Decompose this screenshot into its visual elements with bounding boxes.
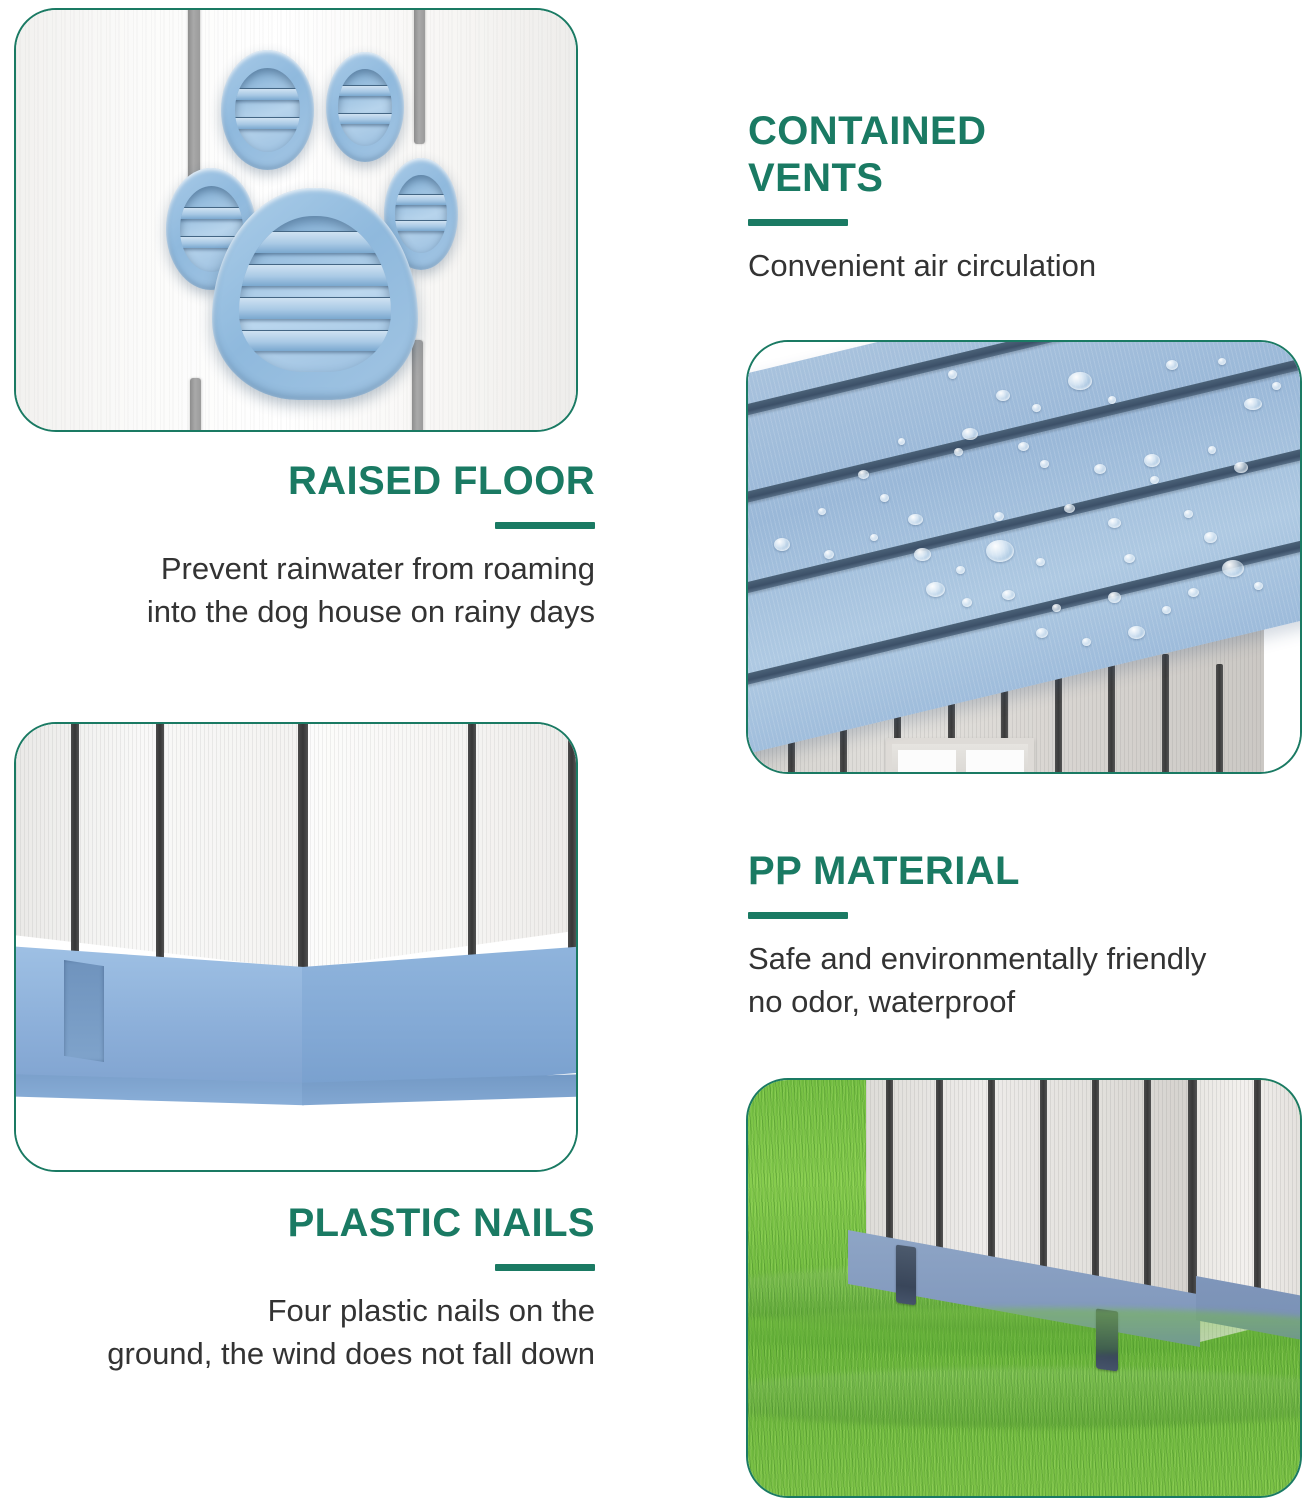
grass-shadow-band <box>748 1368 1300 1428</box>
siding-groove <box>414 10 425 144</box>
water-droplet <box>1068 372 1092 390</box>
feature-body: Prevent rainwater from roaming into the … <box>55 529 595 634</box>
water-droplet <box>1244 398 1262 410</box>
water-droplet <box>1108 518 1121 528</box>
wall-groove <box>156 724 164 966</box>
paw-vent-photo <box>14 8 578 432</box>
water-droplet <box>962 428 978 440</box>
wall-groove <box>1216 664 1223 772</box>
wall-groove <box>1254 1080 1261 1314</box>
water-droplet <box>870 534 878 541</box>
siding-groove <box>190 378 201 430</box>
heading-rule <box>495 1264 595 1271</box>
water-droplet <box>1036 628 1048 638</box>
water-droplet <box>954 448 963 456</box>
water-droplet <box>1218 358 1226 365</box>
wall-groove <box>1144 1080 1151 1308</box>
water-droplet <box>1150 476 1159 484</box>
wall-groove <box>71 724 79 960</box>
heading-rule <box>748 219 848 226</box>
water-droplet <box>1144 454 1160 467</box>
feature-heading: PP MATERIAL <box>748 848 1293 895</box>
feature-heading: CONTAINED VENTS <box>748 108 1293 202</box>
water-droplet <box>1162 606 1171 614</box>
water-droplet <box>1040 460 1049 468</box>
wall-groove <box>1040 1080 1047 1282</box>
feature-pp-material: PP MATERIAL Safe and environmentally fri… <box>748 848 1293 1024</box>
water-droplet <box>1094 464 1106 474</box>
water-droplet <box>1052 604 1061 612</box>
feature-body: Four plastic nails on the ground, the wi… <box>55 1271 595 1376</box>
water-droplet <box>1032 404 1041 412</box>
wall-groove <box>1162 654 1169 772</box>
house-window <box>886 738 1034 772</box>
wall-groove <box>886 1080 893 1242</box>
grass-scene <box>748 1080 1300 1496</box>
siding-groove <box>412 340 423 430</box>
water-droplet <box>1254 582 1263 590</box>
water-droplet <box>1222 560 1244 577</box>
wall-groove <box>936 1080 943 1254</box>
plastic-nail <box>896 1245 916 1306</box>
water-droplet <box>824 550 834 559</box>
water-droplet <box>1108 396 1116 404</box>
water-droplet <box>1002 590 1015 600</box>
wall-groove <box>298 724 308 978</box>
paw-toe-vent <box>221 50 314 170</box>
water-droplet <box>956 566 965 574</box>
water-droplet <box>818 508 826 515</box>
feature-heading: PLASTIC NAILS <box>55 1200 595 1247</box>
water-droplet <box>1188 588 1199 597</box>
raised-base-left <box>16 946 304 1096</box>
water-droplet <box>1082 638 1091 646</box>
water-droplet <box>858 470 869 479</box>
water-droplet <box>1272 382 1281 390</box>
wall-groove <box>1092 1080 1099 1294</box>
raised-base-photo <box>14 722 578 1172</box>
water-droplet <box>1124 554 1135 563</box>
water-droplet <box>1208 446 1216 454</box>
water-droplet <box>994 512 1004 521</box>
wall-groove <box>468 724 476 968</box>
water-droplet <box>1128 626 1145 639</box>
water-droplet <box>1184 510 1193 518</box>
house-wall-right <box>302 724 576 988</box>
feature-plastic-nails: PLASTIC NAILS Four plastic nails on the … <box>55 1200 595 1376</box>
roof-scene <box>748 342 1300 772</box>
water-droplet <box>996 390 1010 401</box>
water-droplet <box>948 370 957 379</box>
roof-plank-seam <box>748 342 1300 532</box>
grass-foreground-tuft <box>748 1308 1300 1354</box>
feature-contained-vents: CONTAINED VENTS Convenient air circulati… <box>748 108 1293 288</box>
feature-heading: RAISED FLOOR <box>55 458 595 505</box>
water-droplet <box>1204 532 1217 543</box>
water-droplet <box>1166 360 1178 370</box>
water-droplet <box>986 540 1014 562</box>
water-droplet <box>1234 462 1248 473</box>
base-scene <box>16 724 576 1170</box>
wall-groove <box>988 1080 995 1268</box>
water-droplet <box>1036 558 1045 566</box>
raised-base-right <box>302 946 576 1096</box>
water-droplet <box>926 582 945 597</box>
water-droplet <box>1108 592 1121 603</box>
water-droplet <box>1018 442 1029 451</box>
feature-body: Convenient air circulation <box>748 226 1293 288</box>
wall-groove <box>1188 1080 1197 1322</box>
heading-rule <box>748 912 848 919</box>
water-droplet <box>880 494 889 502</box>
water-droplet <box>898 438 905 445</box>
infographic-canvas: CONTAINED VENTS Convenient air circulati… <box>0 0 1314 1500</box>
water-droplet <box>774 538 790 551</box>
feature-raised-floor: RAISED FLOOR Prevent rainwater from roam… <box>55 458 595 634</box>
water-droplet <box>908 514 923 525</box>
feature-body: Safe and environmentally friendly no odo… <box>748 919 1293 1024</box>
water-droplet <box>1064 504 1075 513</box>
water-droplet <box>914 548 931 561</box>
heading-rule <box>495 522 595 529</box>
wall-groove <box>568 724 576 960</box>
paw-toe-vent <box>326 52 404 162</box>
plastic-nail-notch <box>64 960 104 1062</box>
grass-nails-photo <box>746 1078 1302 1498</box>
water-droplet <box>962 598 972 607</box>
roof-water-photo <box>746 340 1302 774</box>
